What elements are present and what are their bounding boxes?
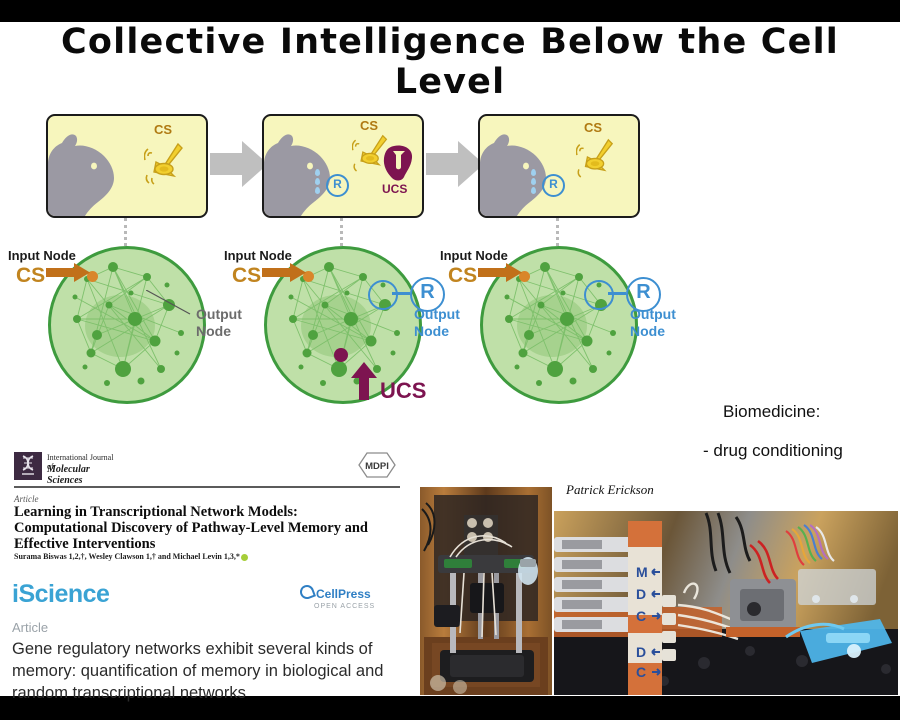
network-2-cs-text: CS (232, 264, 261, 288)
iscience-brand: iScience (12, 580, 109, 609)
photo-robot-illustration (420, 487, 552, 695)
network-1-input-label: Input Node (8, 248, 76, 263)
connector-dots-2 (340, 218, 343, 246)
panel-3-cs-label: CS (584, 120, 602, 135)
connector-dots-3 (556, 218, 559, 246)
mdpi-authors: Surama Biswas 1,2,†, Wesley Clawson 1,† … (14, 552, 394, 561)
slide-root: Collective Intelligence Below the Cell L… (0, 0, 900, 720)
ijms-journal-line2: Molecular Sciences (47, 464, 122, 486)
output-node-highlight-2 (368, 280, 398, 310)
cellpress-open-access: OPEN ACCESS (314, 603, 375, 610)
page-title: Collective Intelligence Below the Cell L… (0, 22, 900, 102)
panel-3-response-badge: R (542, 174, 565, 197)
flow-arrow-2-icon (426, 139, 484, 189)
letterbox-top (0, 0, 900, 22)
svg-text:C: C (636, 664, 646, 680)
mdpi-authors-text: Surama Biswas 1,2,†, Wesley Clawson 1,† … (14, 552, 240, 561)
orcid-icon (241, 554, 248, 561)
output-leader-line-1 (146, 290, 192, 316)
photo-robot (420, 487, 552, 695)
saliva-drop-icon (315, 169, 320, 176)
svg-text:MDPI: MDPI (365, 461, 389, 472)
photo-fluidics-illustration: MDC DC (554, 511, 898, 695)
mdpi-paper-title: Learning in Transcriptional Network Mode… (14, 504, 394, 552)
flow-arrow-1-icon (210, 139, 268, 189)
iscience-paper-title: Gene regulatory networks exhibit several… (12, 638, 400, 704)
network-3-cs-text: CS (448, 264, 477, 288)
photo-credit-caption: Patrick Erickson (566, 482, 654, 498)
biomedicine-heading: Biomedicine: (723, 402, 820, 422)
svg-text:D: D (636, 586, 646, 602)
bell-icon (144, 138, 186, 186)
bell-icon (576, 134, 616, 180)
network-3-output-label: Output Node (630, 306, 676, 340)
network-2-input-label: Input Node (224, 248, 292, 263)
network-1-cs-text: CS (16, 264, 45, 288)
saliva-drop-icon (315, 178, 320, 185)
panel-2-ucs-label: UCS (382, 182, 407, 196)
paper-card-iscience[interactable]: iScience CellPress OPEN ACCESS Article G… (8, 576, 408, 696)
dog-silhouette-icon (46, 130, 140, 218)
network-3-input-label: Input Node (440, 248, 508, 263)
paper-card-mdpi[interactable]: International Journal of Molecular Scien… (8, 446, 408, 574)
output-connector-3 (608, 292, 626, 295)
cellpress-badge: CellPress OPEN ACCESS (300, 585, 375, 610)
ijms-logo-icon (14, 452, 42, 480)
output-connector-2 (392, 292, 410, 295)
saliva-drop-icon (531, 178, 536, 185)
svg-text:M: M (636, 564, 648, 580)
steak-ucs-icon (382, 144, 414, 182)
scene-panel-3: CS R (478, 114, 640, 218)
ucs-input-arrow-icon (350, 362, 378, 400)
panel-2-response-badge: R (326, 174, 349, 197)
svg-text:C: C (636, 608, 646, 624)
photo-fluidics: MDC DC (554, 511, 898, 695)
network-2-output-label: Output Node (414, 306, 460, 340)
mdpi-article-kind: Article (14, 494, 39, 504)
input-arrow-2-icon (262, 263, 306, 282)
network-1-output-label: Output Node (196, 306, 242, 340)
panel-2-cs-label: CS (360, 118, 378, 133)
mdpi-divider (14, 486, 400, 488)
cellpress-swirl-icon (298, 583, 316, 601)
scene-panel-1: CS (46, 114, 208, 218)
mdpi-badge-icon: MDPI (358, 452, 396, 478)
saliva-drop-icon (531, 187, 536, 194)
input-arrow-1-icon (46, 263, 90, 282)
scene-panel-2: CS UCS R (262, 114, 424, 218)
iscience-article-kind: Article (12, 620, 48, 635)
svg-text:D: D (636, 644, 646, 660)
input-arrow-3-icon (478, 263, 522, 282)
saliva-drop-icon (531, 169, 536, 176)
connector-dots-1 (124, 218, 127, 246)
panel-1-cs-label: CS (154, 122, 172, 137)
output-node-highlight-3 (584, 280, 614, 310)
saliva-drop-icon (315, 187, 320, 194)
biomedicine-bullet: - drug conditioning (703, 441, 843, 461)
cellpress-name: CellPress (316, 587, 371, 601)
network-2-ucs-label: UCS (380, 378, 426, 404)
ijms-masthead: International Journal of Molecular Scien… (14, 452, 122, 480)
